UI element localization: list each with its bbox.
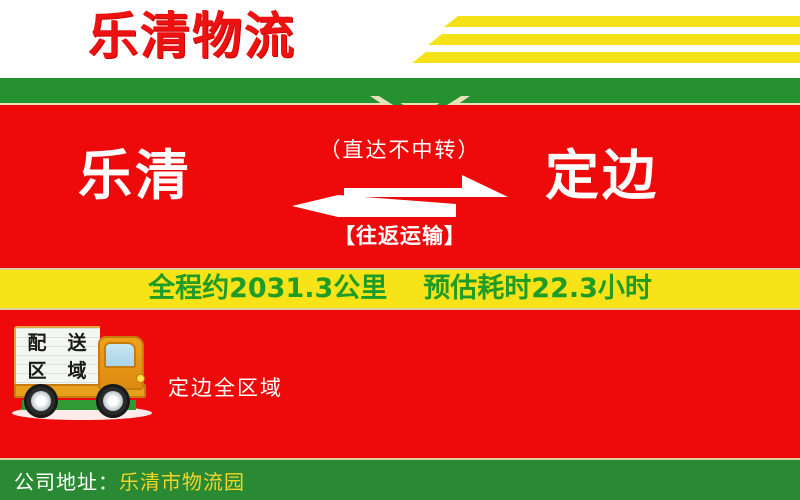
brand-title: 乐清物流 — [88, 6, 296, 66]
truck-box-text: 配 送 区 域 — [17, 329, 97, 385]
route-note-bottom: 【往返运输】 — [0, 220, 800, 250]
truck-headlight-icon — [136, 374, 145, 383]
route-origin: 乐清 — [78, 145, 192, 207]
footer-address-bar: 公司地址： 乐清市物流园 — [0, 458, 800, 500]
box-char-2: 送 — [67, 333, 86, 353]
stripe-2 — [428, 34, 800, 45]
bidirectional-arrow-icon — [292, 175, 508, 217]
box-char-4: 域 — [67, 361, 86, 381]
route-destination: 定边 — [545, 145, 659, 207]
trip-duration: 预估耗时22.3小时 — [423, 270, 652, 308]
stripe-3 — [412, 52, 800, 63]
arrow-right-shape — [344, 175, 508, 197]
trip-info-band: 全程约2031.3公里 预估耗时22.3小时 — [0, 268, 800, 310]
arrow-left-shape — [292, 195, 456, 217]
box-char-1: 配 — [27, 333, 46, 353]
banner-header: 乐清物流 — [0, 0, 800, 78]
route-section: （直达不中转） 乐清 定边 【往返运输】 — [0, 105, 800, 268]
logistics-banner: 乐清物流 （直达不中转） 乐清 定边 【往返运输】 全程约2031.3公里 预估… — [0, 0, 800, 500]
coverage-area-label: 定边全区域 — [168, 372, 283, 402]
delivery-truck-icon: 配 送 区 域 — [8, 322, 160, 432]
stripe-1 — [444, 16, 800, 27]
truck-wheel-rear — [24, 384, 58, 418]
truck-wheel-front — [96, 384, 130, 418]
decorative-stripes — [418, 14, 800, 66]
box-char-3: 区 — [27, 361, 46, 381]
delivery-section: 配 送 区 域 定边全区域 — [0, 310, 800, 458]
address-value: 乐清市物流园 — [119, 466, 245, 495]
address-label: 公司地址： — [14, 466, 119, 495]
trip-distance: 全程约2031.3公里 — [148, 270, 387, 308]
truck-window — [104, 342, 136, 368]
